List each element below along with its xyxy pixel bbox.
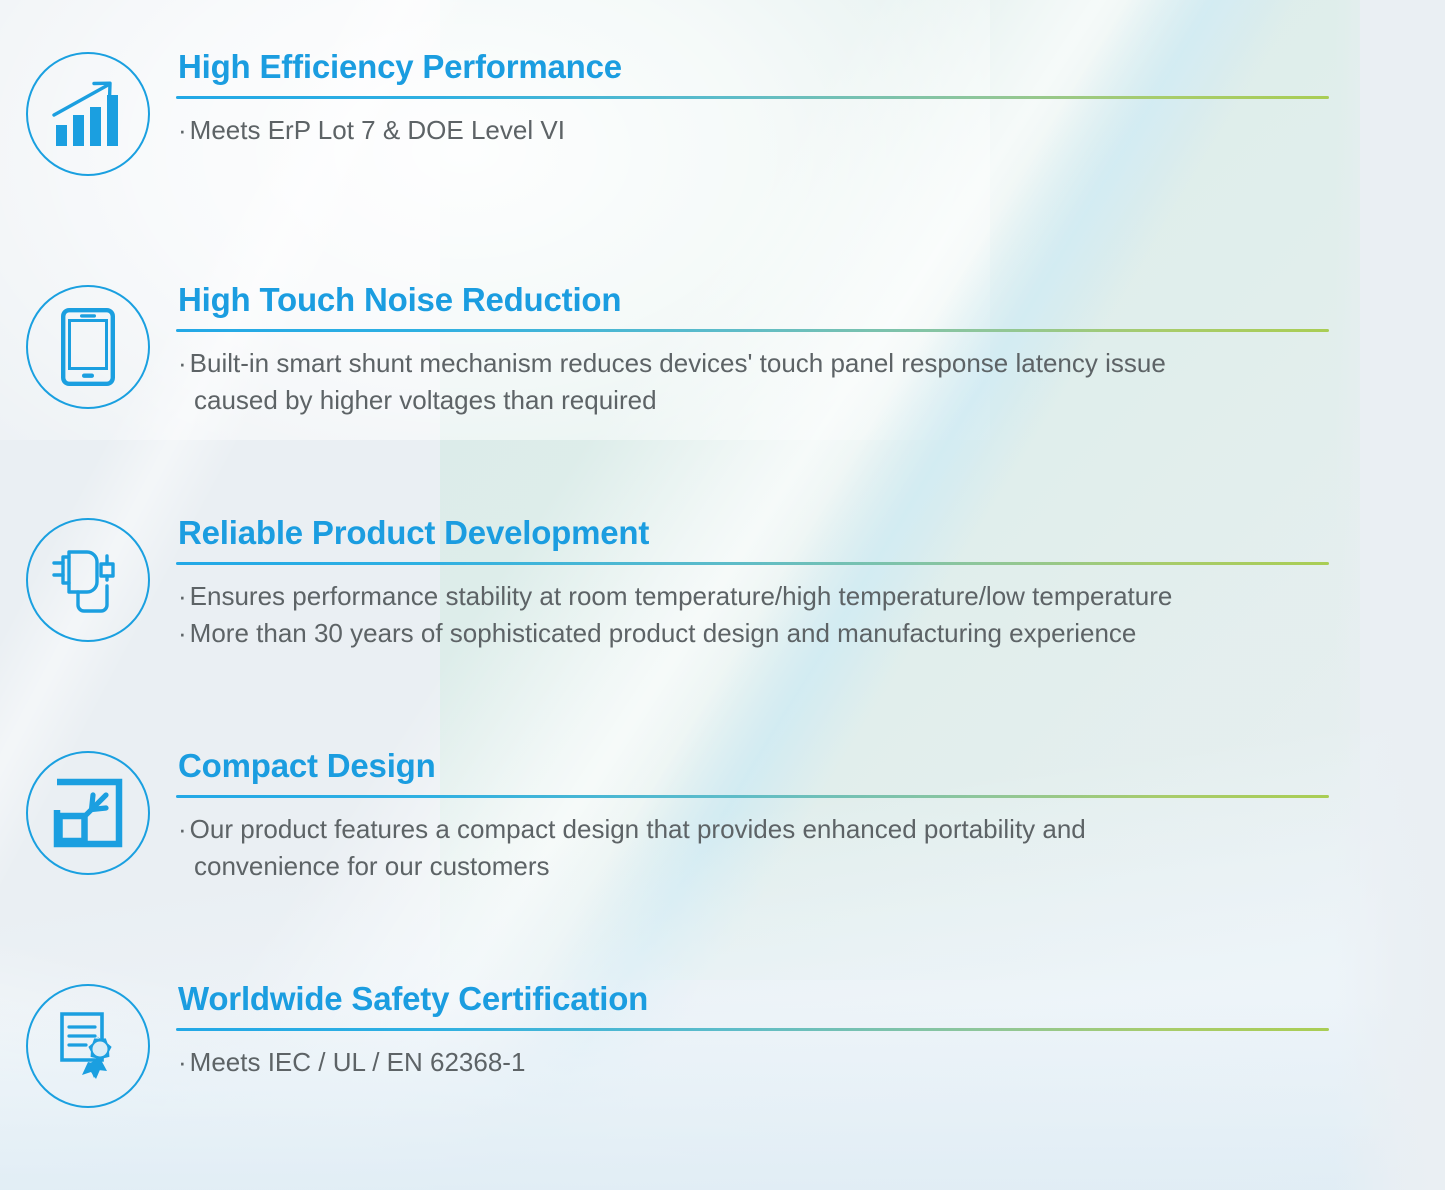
feature-icon-container: [0, 48, 176, 176]
feature-icon-container: [0, 281, 176, 409]
feature-title: Worldwide Safety Certification: [176, 980, 1365, 1024]
feature-item-high-efficiency-performance: High Efficiency Performance ·Meets ErP L…: [0, 48, 1445, 176]
feature-divider-rule: [176, 1028, 1329, 1031]
feature-divider-rule: [176, 795, 1329, 798]
feature-bullet-continuation: caused by higher voltages than required: [178, 382, 1338, 419]
feature-icon-container: [0, 514, 176, 642]
smartphone-icon: [26, 285, 150, 409]
feature-divider-rule: [176, 96, 1329, 99]
feature-bullet-continuation: convenience for our customers: [178, 848, 1338, 885]
feature-icon-container: [0, 980, 176, 1108]
feature-bullet-text: Meets ErP Lot 7 & DOE Level VI: [190, 115, 565, 145]
bullet-glyph: ·: [178, 348, 187, 378]
bullet-glyph: ·: [178, 618, 187, 648]
bullet-glyph: ·: [178, 814, 187, 844]
bullet-glyph: ·: [178, 115, 187, 145]
feature-divider-rule: [176, 562, 1329, 565]
feature-bullet-line: ·Ensures performance stability at room t…: [178, 578, 1365, 615]
feature-bullet-text: More than 30 years of sophisticated prod…: [190, 618, 1137, 648]
feature-bullet-text: Ensures performance stability at room te…: [190, 581, 1173, 611]
feature-text-block: High Efficiency Performance ·Meets ErP L…: [176, 48, 1445, 149]
certificate-seal-icon: [26, 984, 150, 1108]
feature-item-compact-design: Compact Design ·Our product features a c…: [0, 747, 1445, 885]
feature-bullet-text: Meets IEC / UL / EN 62368-1: [190, 1047, 526, 1077]
feature-item-worldwide-safety-certification: Worldwide Safety Certification ·Meets IE…: [0, 980, 1445, 1108]
feature-text-block: High Touch Noise Reduction ·Built-in sma…: [176, 281, 1445, 419]
feature-divider-rule: [176, 329, 1329, 332]
power-adapter-icon: [26, 518, 150, 642]
feature-item-reliable-product-development: Reliable Product Development ·Ensures pe…: [0, 514, 1445, 652]
feature-highlights-page: High Efficiency Performance ·Meets ErP L…: [0, 0, 1445, 1190]
feature-bullet-list: ·Ensures performance stability at room t…: [176, 578, 1365, 652]
feature-text-block: Compact Design ·Our product features a c…: [176, 747, 1445, 885]
feature-bullet-list: ·Meets IEC / UL / EN 62368-1: [176, 1044, 1365, 1081]
feature-bullet-text: Built-in smart shunt mechanism reduces d…: [190, 348, 1166, 378]
compact-resize-icon: [26, 751, 150, 875]
feature-title: Compact Design: [176, 747, 1365, 791]
feature-text-block: Worldwide Safety Certification ·Meets IE…: [176, 980, 1445, 1081]
feature-bullet-list: ·Our product features a compact design t…: [176, 811, 1365, 885]
feature-bullet-list: ·Meets ErP Lot 7 & DOE Level VI: [176, 112, 1365, 149]
feature-bullet-text: Our product features a compact design th…: [190, 814, 1086, 844]
feature-item-high-touch-noise-reduction: High Touch Noise Reduction ·Built-in sma…: [0, 281, 1445, 419]
bar-chart-growth-icon: [26, 52, 150, 176]
bullet-glyph: ·: [178, 1047, 187, 1077]
feature-bullet-line: ·Built-in smart shunt mechanism reduces …: [178, 345, 1338, 419]
feature-title: High Touch Noise Reduction: [176, 281, 1365, 325]
feature-text-block: Reliable Product Development ·Ensures pe…: [176, 514, 1445, 652]
bullet-glyph: ·: [178, 581, 187, 611]
feature-bullet-list: ·Built-in smart shunt mechanism reduces …: [176, 345, 1365, 419]
feature-bullet-line: ·Meets IEC / UL / EN 62368-1: [178, 1044, 1365, 1081]
feature-title: High Efficiency Performance: [176, 48, 1365, 92]
feature-icon-container: [0, 747, 176, 875]
feature-bullet-line: ·More than 30 years of sophisticated pro…: [178, 615, 1365, 652]
feature-bullet-line: ·Our product features a compact design t…: [178, 811, 1338, 885]
feature-bullet-line: ·Meets ErP Lot 7 & DOE Level VI: [178, 112, 1365, 149]
feature-title: Reliable Product Development: [176, 514, 1365, 558]
